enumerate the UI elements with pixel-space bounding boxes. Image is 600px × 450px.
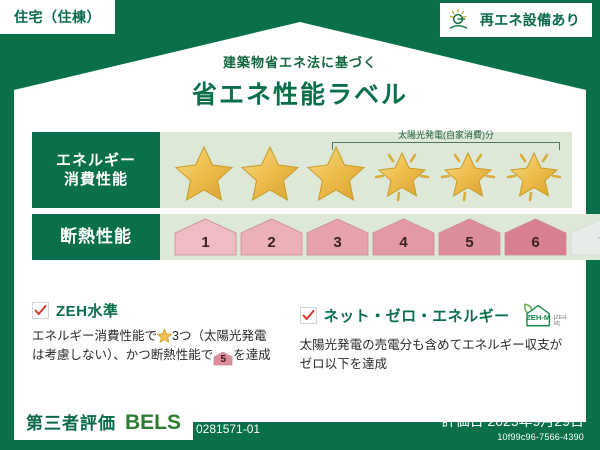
energy-label-line1: エネルギー [56, 151, 136, 171]
insulation-grade-value: 2 [267, 234, 275, 256]
insulation-label-text: 断熱性能 [60, 226, 132, 248]
energy-performance-label: 住宅（住棟） 再エネ設備あり 建築物省エネ法に基づく 省エネ性能ラベル [0, 0, 600, 450]
zeh-m-logo: ZEH-M [ZEH-M] [518, 300, 572, 330]
bels-logo-text: BELS [125, 411, 181, 435]
solar-annotation-text: 太陽光発電(自家消費)分 [332, 131, 560, 140]
energy-performance-label: エネルギー 消費性能 [32, 132, 160, 208]
insulation-grade-inline: 5 [213, 351, 233, 366]
insulation-grade-item: 6 [504, 218, 567, 256]
criterion-net-zero-header: ネット・ゼロ・エネルギー ZEH-M [ZEH-M] [300, 300, 572, 330]
insulation-grade-item: 4 [372, 218, 435, 256]
renewable-energy-label: 再エネ設備あり [480, 10, 580, 30]
heading-title: 省エネ性能ラベル [0, 75, 600, 111]
insulation-grade-item: 2 [240, 218, 303, 256]
insulation-grade-item-inactive: 7 [570, 218, 600, 256]
star-rating [166, 142, 566, 204]
star-icon [172, 142, 236, 204]
solar-sun-icon [448, 8, 474, 32]
heading-subtitle: 建築物省エネ法に基づく [0, 52, 600, 71]
star-icon-solar [370, 142, 434, 204]
zeh-body-part3: を達成 [233, 348, 271, 362]
checkbox-checked-icon[interactable] [300, 307, 317, 324]
insulation-grade-value: 1 [201, 234, 209, 256]
energy-performance-value: 太陽光発電(自家消費)分 [160, 132, 572, 208]
criterion-net-zero-title: ネット・ゼロ・エネルギー [324, 305, 510, 326]
evaluation-info: 評価日 2025年9月29日 10f99c96-7566-4390 [442, 413, 584, 442]
insulation-performance-value: 1 2 3 4 5 [160, 214, 600, 260]
building-type-label: 住宅（住棟） [14, 9, 101, 25]
insulation-grade-scale: 1 2 3 4 5 [168, 218, 600, 256]
energy-performance-row: エネルギー 消費性能 太陽光発電(自家消費)分 [32, 132, 568, 208]
criterion-net-zero-body: 太陽光発電の売電分も含めてエネルギー収支がゼロ以下を達成 [300, 336, 572, 375]
star-icon [304, 142, 368, 204]
insulation-performance-label: 断熱性能 [32, 214, 160, 260]
checkbox-checked-icon[interactable] [32, 302, 49, 319]
insulation-grade-item: 5 [438, 218, 501, 256]
insulation-grade-value: 6 [531, 234, 539, 256]
performance-rows: エネルギー 消費性能 太陽光発電(自家消費)分 [32, 132, 568, 266]
zeh-m-logo-caption: [ZEH-M] [554, 315, 572, 330]
zeh-body-grade: 5 [213, 351, 233, 368]
insulation-grade-item: 1 [174, 218, 237, 256]
criterion-zeh-header: ZEH水準 [32, 300, 278, 321]
evaluation-id: 10f99c96-7566-4390 [442, 432, 584, 442]
building-type-tag: 住宅（住棟） [0, 0, 115, 34]
bels-certification-tag: 第三者評価 BELS [14, 404, 193, 440]
criterion-net-zero: ネット・ゼロ・エネルギー ZEH-M [ZEH-M] 太陽光発電の売電分も含めて… [300, 300, 572, 375]
bels-number: 0281571-01 [196, 422, 260, 436]
criterion-zeh-body: エネルギー消費性能で3つ（太陽光発電は考慮しない）、かつ断熱性能で5を達成 [32, 327, 278, 366]
label-heading: 建築物省エネ法に基づく 省エネ性能ラベル [0, 52, 600, 111]
insulation-grade-item: 3 [306, 218, 369, 256]
criterion-zeh: ZEH水準 エネルギー消費性能で3つ（太陽光発電は考慮しない）、かつ断熱性能で5… [32, 300, 278, 375]
insulation-grade-value: 3 [333, 234, 341, 256]
star-icon-solar [502, 142, 566, 204]
star-icon-inline [157, 328, 172, 343]
label-footer: 第三者評価 BELS 0281571-01 評価日 2025年9月29日 10f… [0, 392, 600, 450]
evaluation-date: 評価日 2025年9月29日 [442, 413, 584, 430]
criteria-section: ZEH水準 エネルギー消費性能で3つ（太陽光発電は考慮しない）、かつ断熱性能で5… [32, 300, 572, 375]
renewable-energy-badge: 再エネ設備あり [440, 3, 592, 37]
svg-text:ZEH-M: ZEH-M [526, 313, 550, 322]
criterion-zeh-title: ZEH水準 [56, 300, 119, 321]
insulation-performance-row: 断熱性能 1 2 3 [32, 214, 568, 260]
evaluation-date-label: 評価日 [442, 413, 484, 429]
star-icon-solar [436, 142, 500, 204]
third-party-eval-label: 第三者評価 [26, 409, 116, 434]
zeh-body-part1: エネルギー消費性能で [32, 329, 157, 343]
energy-label-line2: 消費性能 [64, 170, 128, 190]
insulation-grade-value: 4 [399, 234, 407, 256]
insulation-grade-value: 5 [465, 234, 473, 256]
evaluation-date-value: 2025年9月29日 [487, 413, 584, 429]
star-icon [238, 142, 302, 204]
